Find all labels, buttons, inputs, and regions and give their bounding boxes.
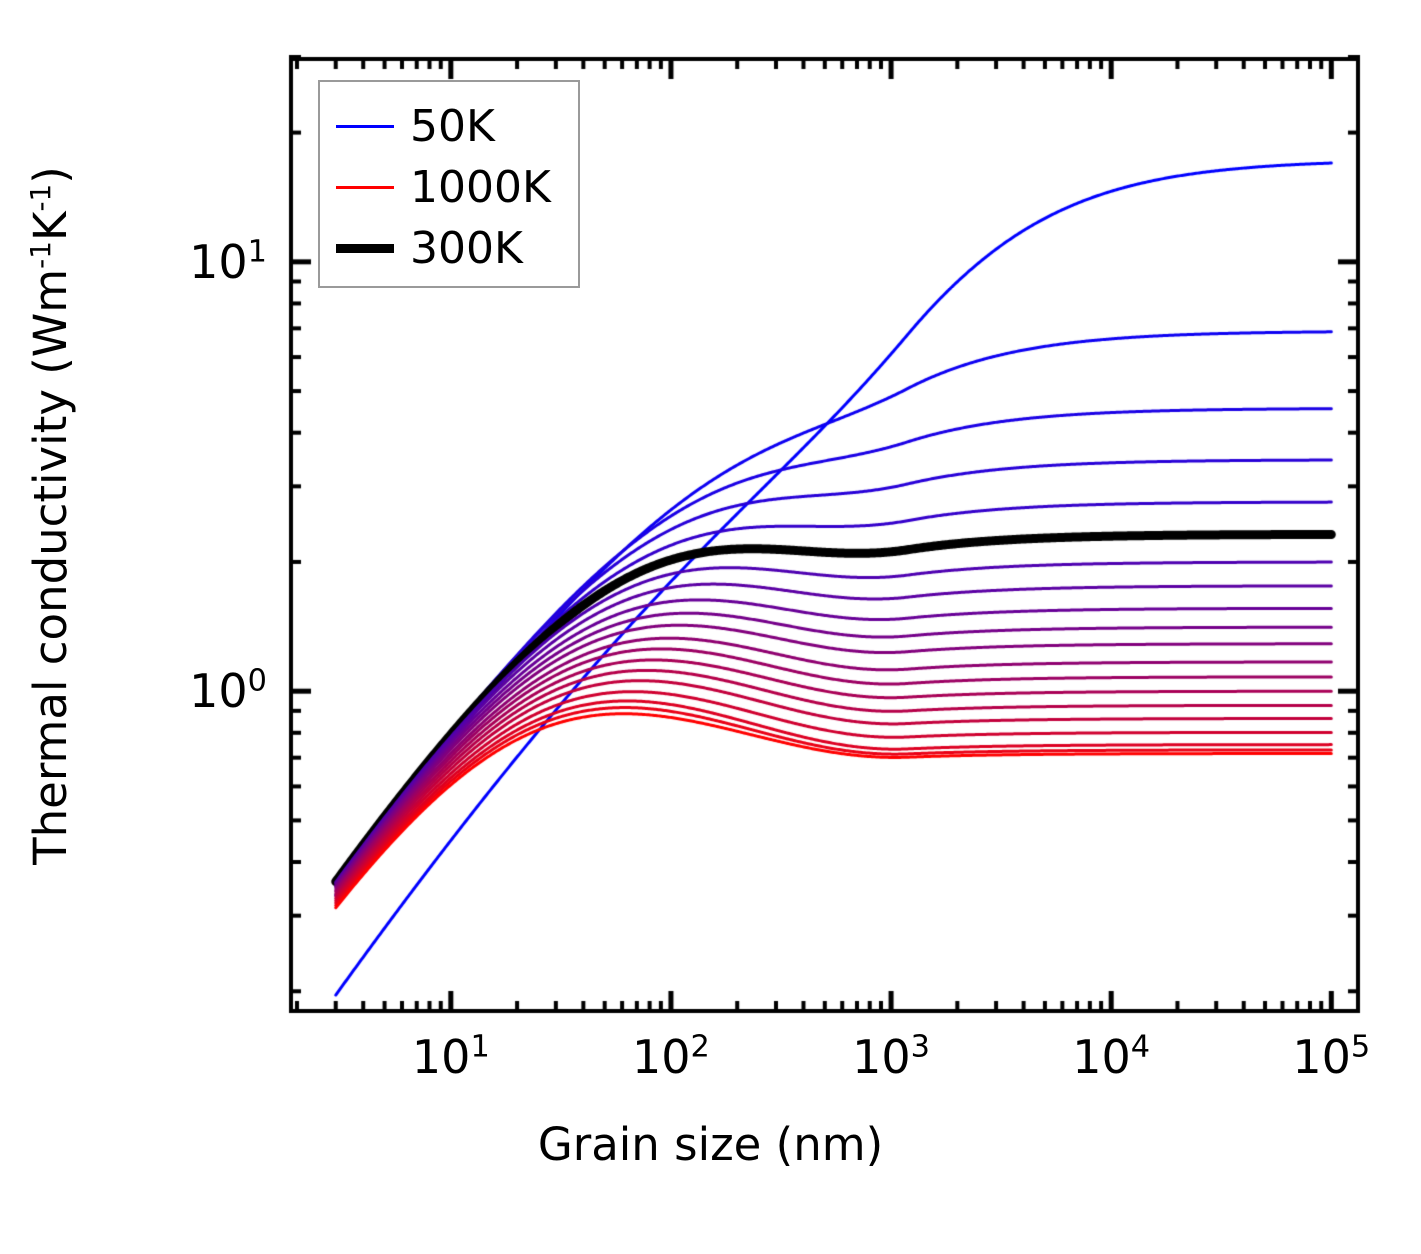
legend-item-300k: 300K: [320, 218, 578, 279]
y-tick-label: 101: [0, 235, 267, 289]
legend-swatch-icon: [336, 244, 394, 253]
x-tick-label: 104: [1072, 1030, 1150, 1084]
x-tick-label: 102: [632, 1030, 710, 1084]
plot-canvas: [0, 0, 1421, 1254]
legend-label: 50K: [410, 105, 495, 149]
x-tick-label: 105: [1292, 1030, 1370, 1084]
x-tick-label: 101: [412, 1030, 490, 1084]
chart-legend: 50K1000K300K: [318, 80, 580, 288]
chart-figure: Thermal conductivity (Wm-1K-1) Grain siz…: [0, 0, 1421, 1254]
y-axis-label: Thermal conductivity (Wm-1K-1): [0, 0, 100, 1030]
x-axis-label: Grain size (nm): [0, 1118, 1421, 1171]
legend-label: 300K: [410, 227, 523, 271]
y-tick-label: 100: [0, 664, 267, 718]
legend-swatch-icon: [336, 186, 394, 189]
legend-swatch-icon: [336, 125, 394, 128]
legend-label: 1000K: [410, 166, 551, 210]
legend-item-1000k: 1000K: [320, 157, 578, 218]
x-tick-label: 103: [852, 1030, 930, 1084]
legend-item-50k: 50K: [320, 96, 578, 157]
